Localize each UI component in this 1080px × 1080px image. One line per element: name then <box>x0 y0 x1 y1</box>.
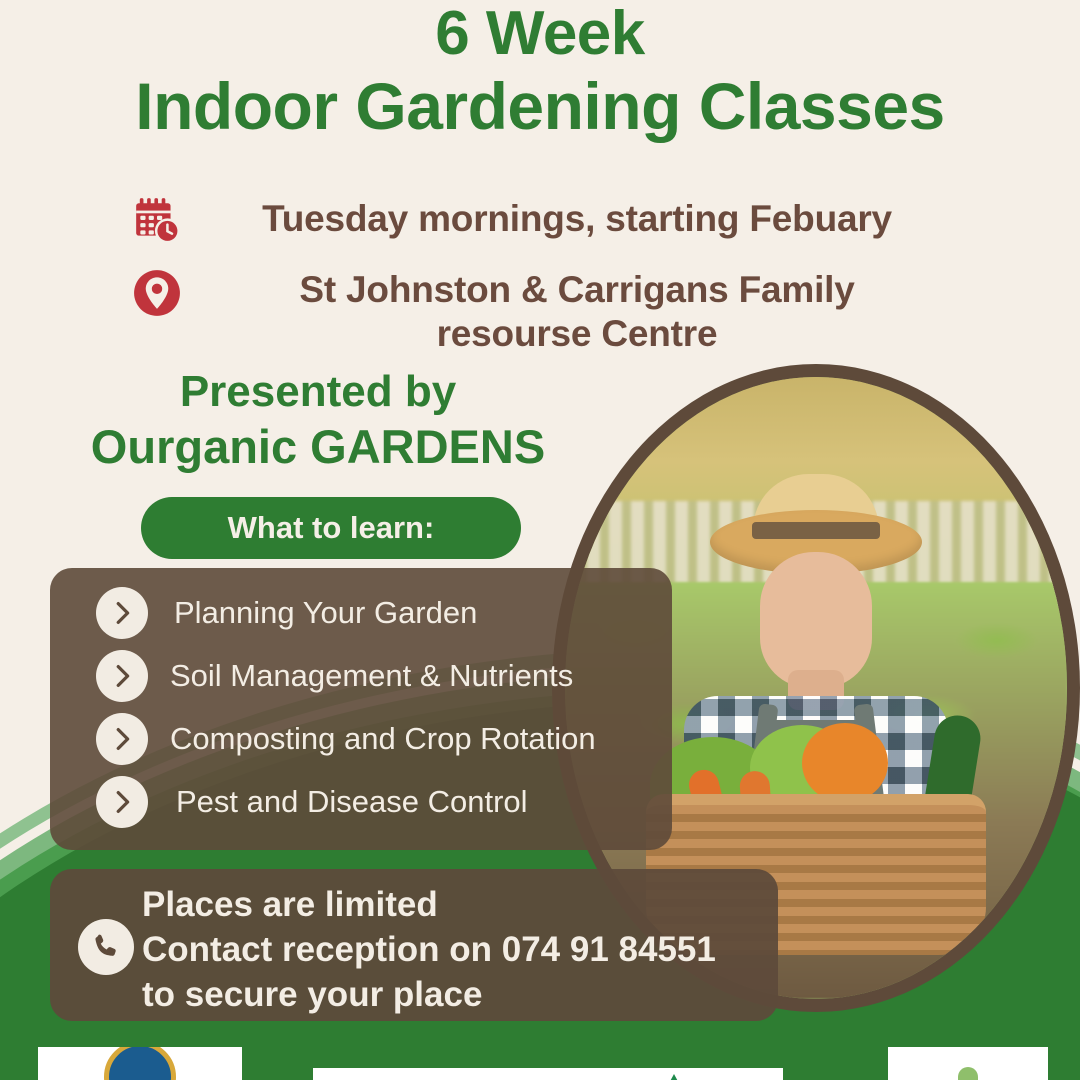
contact-text: Places are limited Contact reception on … <box>142 883 767 1017</box>
presenter-line-2: Ourganic GARDENS <box>18 422 618 473</box>
headline-line-1: 6 Week <box>0 2 1080 65</box>
headline-line-2: Indoor Gardening Classes <box>0 73 1080 140</box>
list-item-label: Planning Your Garden <box>174 595 477 631</box>
contact-panel: Places are limited Contact reception on … <box>50 869 778 1021</box>
detail-location-line-1: St Johnston & Carrigans Family <box>188 268 966 312</box>
photo-hat-band <box>752 522 880 539</box>
list-item-label: Composting and Crop Rotation <box>170 721 596 757</box>
list-item: Soil Management & Nutrients <box>50 645 672 707</box>
page-title: 6 Week Indoor Gardening Classes <box>0 2 1080 141</box>
what-to-learn-label: What to learn: <box>228 510 435 546</box>
contact-line-3: to secure your place <box>142 973 767 1018</box>
list-item: Planning Your Garden <box>50 582 672 644</box>
photo-pumpkin <box>802 723 888 803</box>
presenter-line-1: Presented by <box>18 368 618 416</box>
calendar-clock-icon <box>126 190 188 252</box>
phone-icon <box>78 919 134 975</box>
list-item-label: Soil Management & Nutrients <box>170 658 573 694</box>
footer-logo-card-1 <box>38 1047 242 1080</box>
chevron-right-icon <box>96 776 148 828</box>
event-details: Tuesday mornings, starting Febuary St Jo… <box>126 190 966 367</box>
presenter-block: Presented by Ourganic GARDENS <box>18 368 618 472</box>
detail-row-date: Tuesday mornings, starting Febuary <box>126 190 966 252</box>
detail-location-line-2: resourse Centre <box>188 312 966 356</box>
learn-topics-panel: Planning Your Garden Soil Management & N… <box>50 568 672 850</box>
detail-date-text: Tuesday mornings, starting Febuary <box>188 190 966 241</box>
list-item-label: Pest and Disease Control <box>176 784 528 820</box>
what-to-learn-pill: What to learn: <box>141 497 521 559</box>
chevron-right-icon <box>96 650 148 702</box>
contact-line-1: Places are limited <box>142 883 767 928</box>
contact-line-2: Contact reception on 074 91 84551 <box>142 928 767 973</box>
leaf-logo-icon <box>958 1067 978 1080</box>
detail-row-location: St Johnston & Carrigans Family resourse … <box>126 262 966 357</box>
detail-location-text: St Johnston & Carrigans Family resourse … <box>188 262 966 357</box>
footer-logo-card-3 <box>888 1047 1048 1080</box>
chevron-right-icon <box>96 587 148 639</box>
photo-face <box>760 552 872 688</box>
poster-root: 6 Week Indoor Gardening Classes <box>0 0 1080 1080</box>
list-item: Pest and Disease Control <box>50 771 672 833</box>
crest-logo-icon <box>104 1047 176 1080</box>
location-pin-icon <box>126 262 188 324</box>
partner-logo-icon-b <box>661 1074 687 1080</box>
chevron-right-icon <box>96 713 148 765</box>
footer-logo-card-2 <box>313 1068 783 1080</box>
list-item: Composting and Crop Rotation <box>50 708 672 770</box>
